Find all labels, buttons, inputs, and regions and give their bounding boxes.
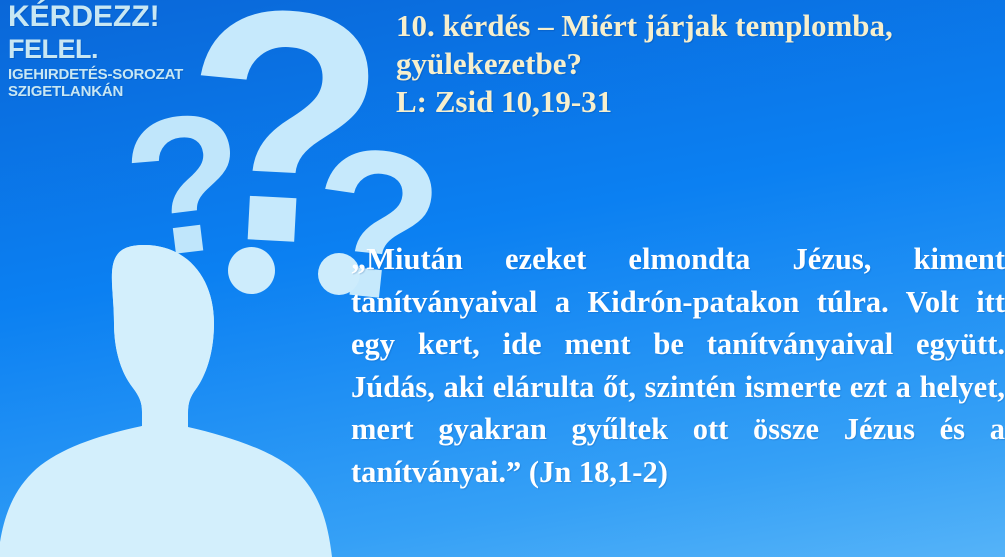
- heading-line-1: 10. kérdés – Miért járjak templomba,: [396, 7, 1004, 45]
- scripture-quote-text: „Miután ezeket elmondta Jézus, kiment ta…: [351, 242, 1005, 489]
- logo-subtitle-line-2: SZIGETLANKÁN: [8, 84, 183, 101]
- presentation-slide: ? ? ? KÉRDEZZ! FELEL. IGEHIRDETÉS-SOROZA…: [0, 0, 1005, 557]
- question-mark-dot-medium: [228, 247, 275, 294]
- logo-line-kerdezz: KÉRDEZZ!: [8, 2, 183, 33]
- series-logo: KÉRDEZZ! FELEL. IGEHIRDETÉS-SOROZAT SZIG…: [8, 2, 183, 101]
- question-mark-icon-medium: ?: [115, 81, 257, 289]
- decorative-circle: [133, 437, 208, 512]
- logo-subtitle-line-1: IGEHIRDETÉS-SOROZAT: [8, 67, 183, 84]
- scripture-quote: „Miután ezeket elmondta Jézus, kiment ta…: [351, 238, 1005, 493]
- heading-reading-reference: L: Zsid 10,19-31: [396, 83, 1004, 121]
- heading-line-2: gyülekezetbe?: [396, 45, 1004, 83]
- person-silhouette-icon: [0, 227, 338, 557]
- logo-line-felel: FELEL.: [8, 33, 183, 65]
- slide-heading: 10. kérdés – Miért járjak templomba, gyü…: [396, 7, 1004, 121]
